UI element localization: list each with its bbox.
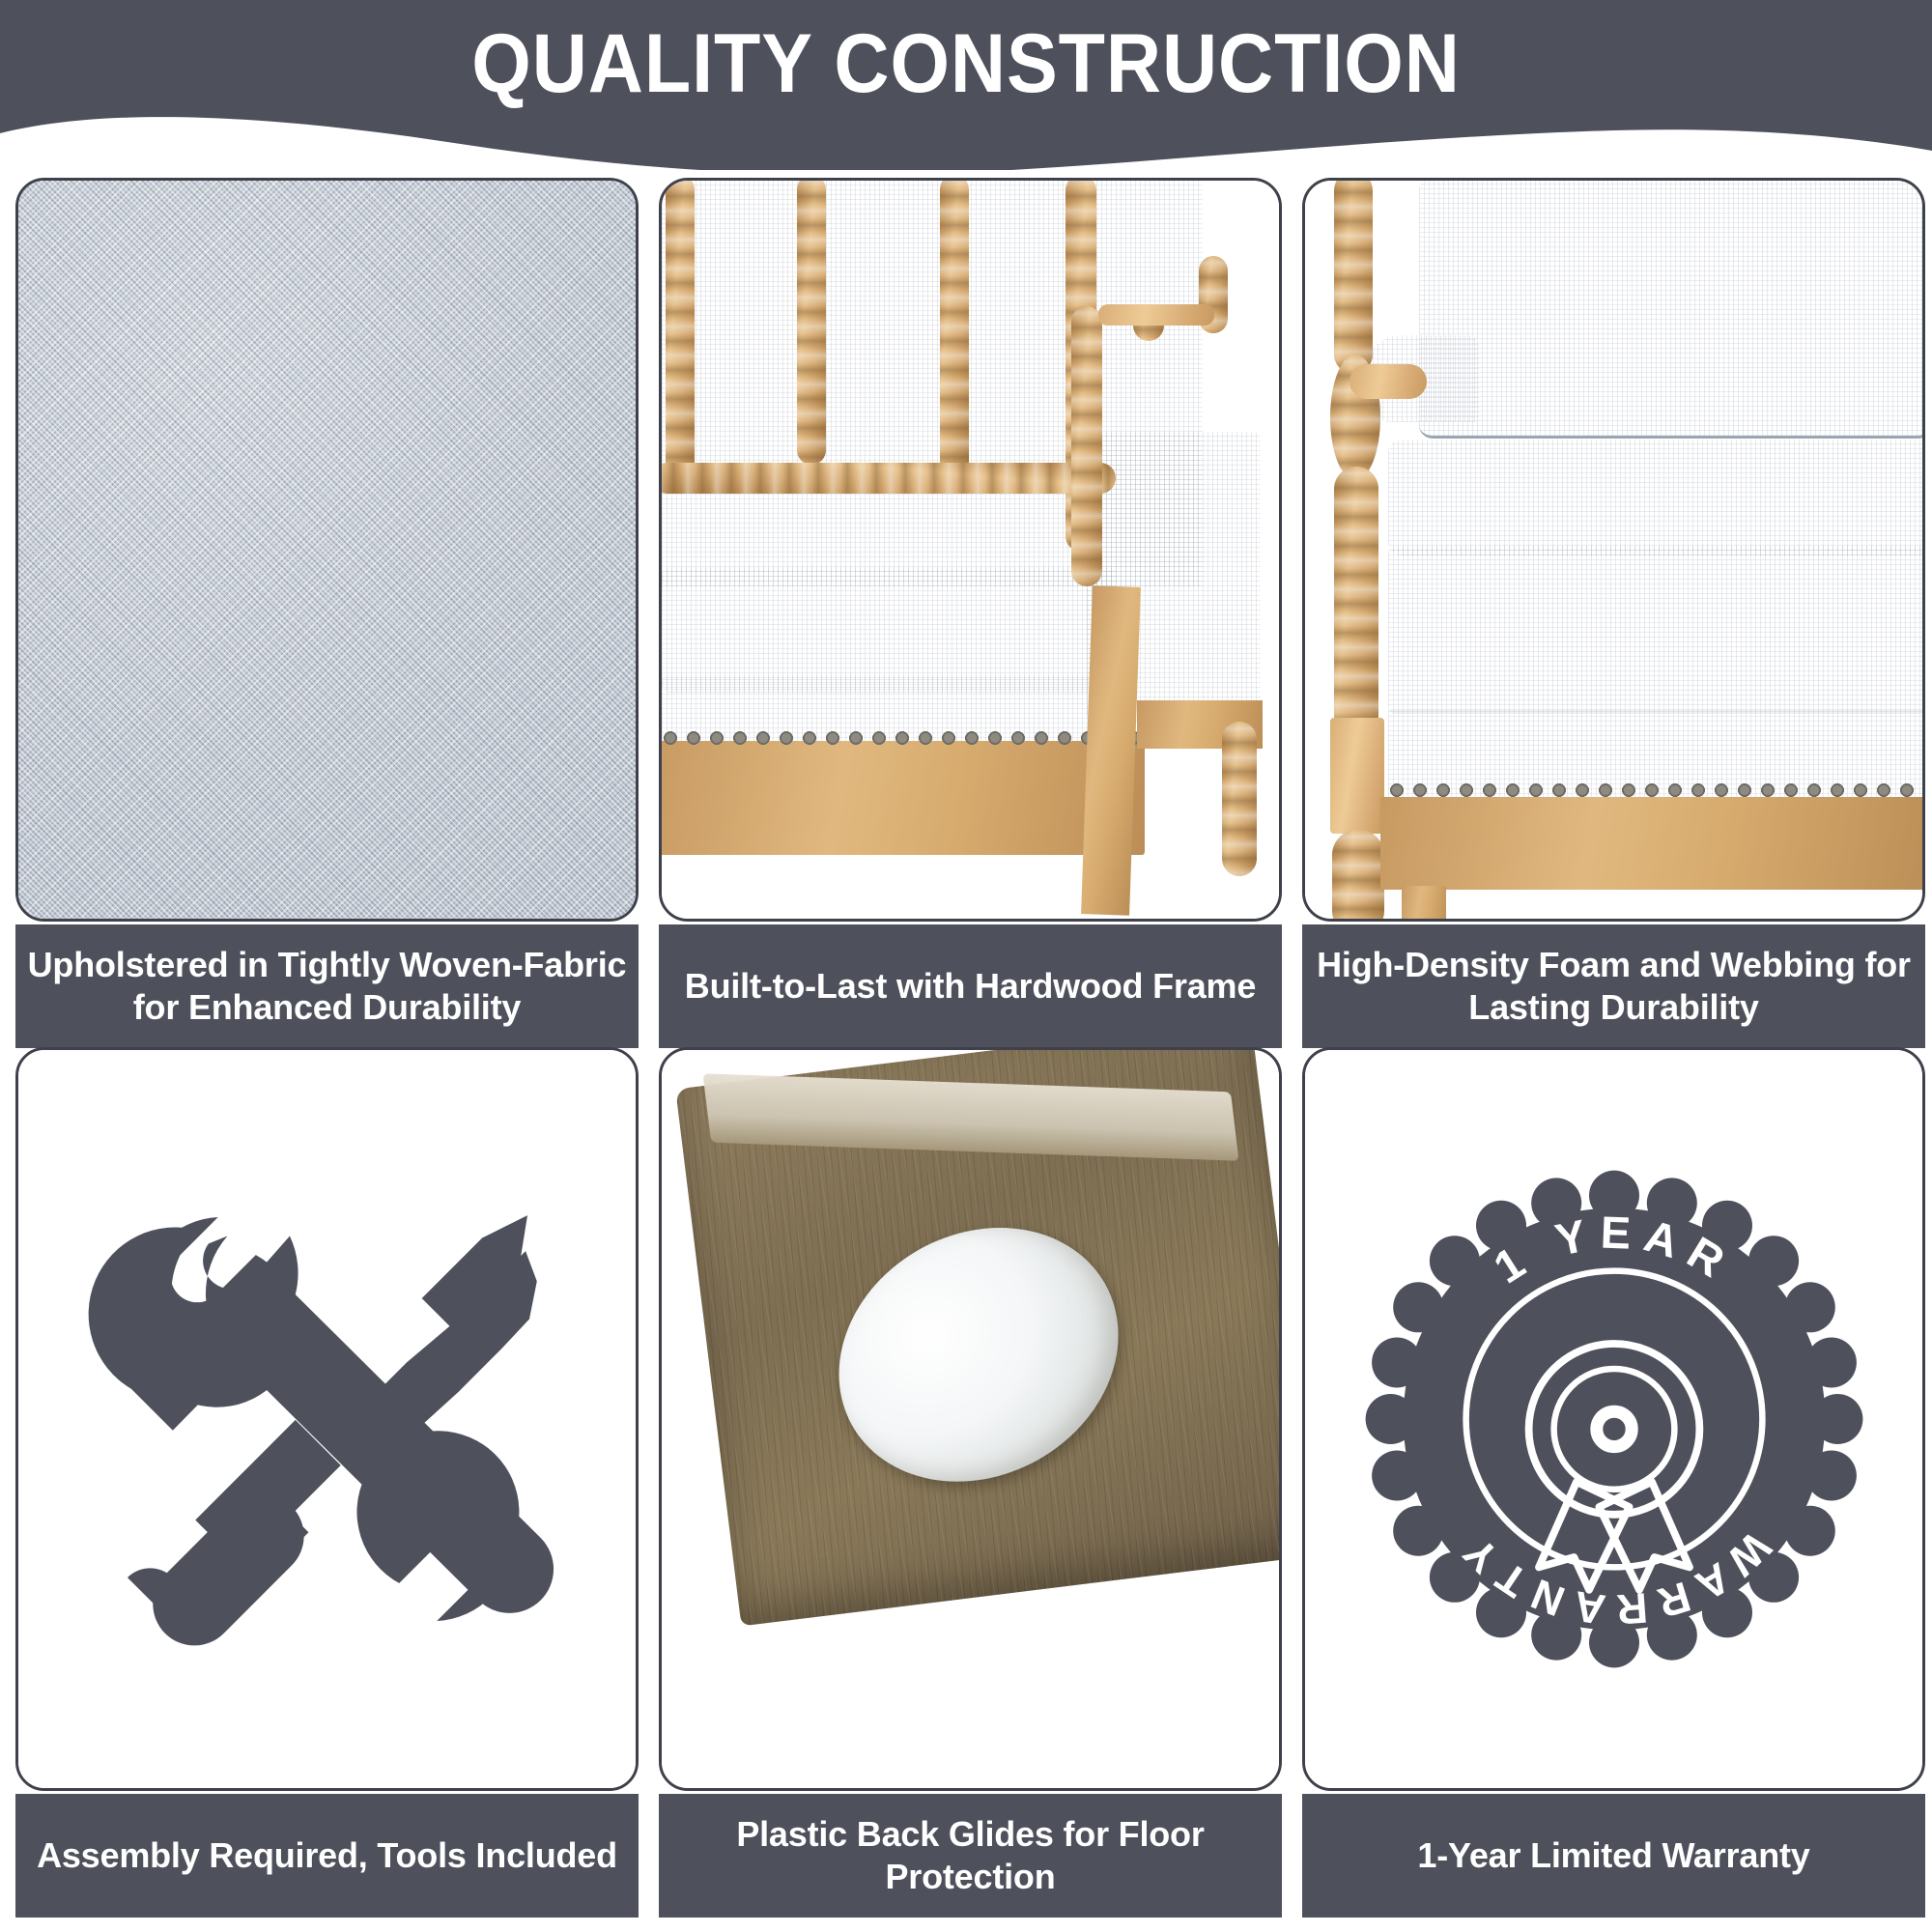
bobbin-spindle xyxy=(797,181,826,465)
tile-caption-warranty: 1-Year Limited Warranty xyxy=(1302,1794,1925,1918)
tile-caption-foam-webbing: High-Density Foam and Webbing for Lastin… xyxy=(1302,924,1925,1048)
bobbin-rail-horizontal xyxy=(662,463,1116,494)
bobbin-spindle xyxy=(940,181,969,476)
wooden-leg-foot xyxy=(675,1047,1282,1626)
arm-wood-knuckle xyxy=(1350,364,1427,399)
feature-tile-assembly-tools: Assembly Required, Tools Included xyxy=(15,1047,639,1918)
assembly-tools-image xyxy=(15,1047,639,1791)
bobbin-foot xyxy=(1332,830,1384,919)
feature-tile-floor-glides: Plastic Back Glides for Floor Protection xyxy=(659,1047,1282,1918)
feature-tile-fabric-swatch: Upholstered in Tightly Woven-Fabric for … xyxy=(15,178,639,1048)
bobbin-arm-post xyxy=(1071,306,1102,586)
seat-cushion-top xyxy=(1388,440,1922,555)
hardwood-frame-image xyxy=(659,178,1282,922)
spindle-chair-photo xyxy=(662,181,1279,919)
bobbin-post-upper xyxy=(1334,181,1373,374)
woven-fabric-texture xyxy=(18,181,636,919)
feature-tile-hardwood-frame: Built-to-Last with Hardwood Frame xyxy=(659,178,1282,1048)
chair-front-leg xyxy=(1081,585,1141,916)
floor-glides-image xyxy=(659,1047,1282,1791)
bobbin-back-leg xyxy=(1222,722,1257,876)
seat-cushion-front xyxy=(1388,546,1922,714)
infographic-page: QUALITY CONSTRUCTION Upholstered in Tigh… xyxy=(0,0,1932,1932)
chair-seat-cushion-upper xyxy=(662,567,1116,693)
page-header-banner: QUALITY CONSTRUCTION xyxy=(0,0,1932,170)
feature-tile-warranty: 1 YEAR WARRANTY xyxy=(1302,1047,1925,1918)
tile-caption-fabric-swatch: Upholstered in Tightly Woven-Fabric for … xyxy=(15,924,639,1048)
nailhead-trim xyxy=(662,727,1145,749)
tile-caption-assembly-tools: Assembly Required, Tools Included xyxy=(15,1794,639,1918)
bobbin-spindle xyxy=(666,181,695,494)
warranty-seal-icon: 1 YEAR WARRANTY xyxy=(1363,1168,1865,1670)
chair-front-rail xyxy=(662,741,1145,855)
bobbin-post-lower xyxy=(1334,467,1378,737)
page-title: QUALITY CONSTRUCTION xyxy=(77,17,1855,110)
base-wood-rail xyxy=(1380,797,1922,890)
tile-caption-hardwood-frame: Built-to-Last with Hardwood Frame xyxy=(659,924,1282,1048)
back-cushion xyxy=(1419,181,1922,439)
chair-arm-rail xyxy=(1098,304,1214,326)
tile-caption-floor-glides: Plastic Back Glides for Floor Protection xyxy=(659,1794,1282,1918)
wrench-screwdriver-icon xyxy=(86,1178,569,1661)
header-wave-divider xyxy=(0,112,1932,170)
foam-webbing-image xyxy=(1302,178,1925,922)
warranty-badge-container: 1 YEAR WARRANTY xyxy=(1305,1050,1922,1788)
fabric-swatch-image xyxy=(15,178,639,922)
feature-tile-foam-webbing: High-Density Foam and Webbing for Lastin… xyxy=(1302,178,1925,1048)
chair-cushion-closeup-photo xyxy=(1305,181,1922,919)
warranty-badge-image: 1 YEAR WARRANTY xyxy=(1302,1047,1925,1791)
tools-icon-container xyxy=(18,1050,636,1788)
leg-block xyxy=(1330,718,1384,834)
feature-tile-grid: Upholstered in Tightly Woven-Fabric for … xyxy=(0,170,1932,1932)
rear-foot xyxy=(1402,886,1446,919)
plastic-glide-photo xyxy=(662,1050,1279,1788)
